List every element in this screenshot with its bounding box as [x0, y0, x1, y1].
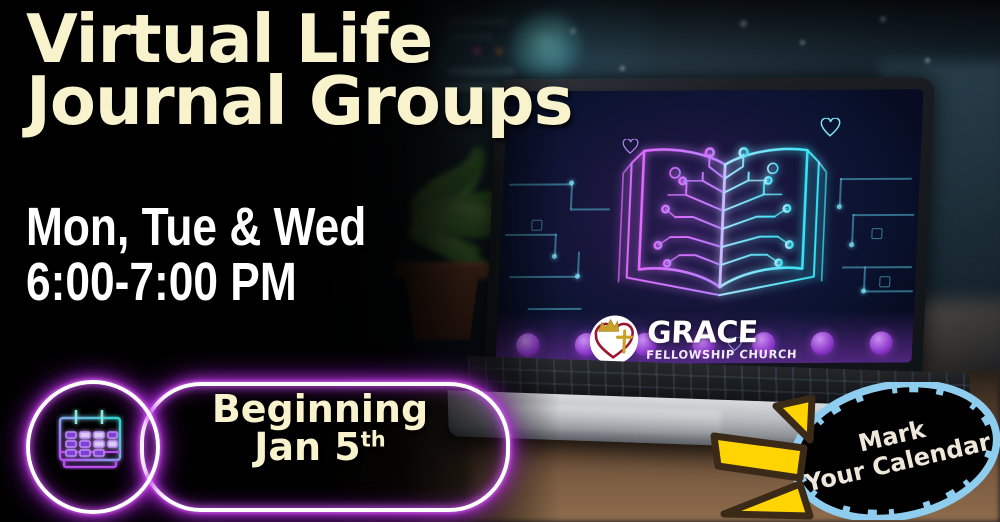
circuit-node [575, 274, 580, 279]
promo-poster: GRACE FELLOWSHIP CHURCH [0, 0, 1000, 522]
screen-dot [810, 331, 834, 354]
schedule-days: Mon, Tue & Wed [26, 200, 366, 255]
circuit-trace [840, 178, 912, 180]
circuit-square [871, 228, 882, 239]
schedule-block: Mon, Tue & Wed 6:00-7:00 PM [26, 200, 366, 310]
start-date-line-1: Beginning [150, 390, 490, 428]
logo-name: GRACE [647, 319, 799, 347]
burst-ray-top [776, 398, 812, 440]
glowing-circuit-book-icon [607, 128, 844, 310]
logo-tagline: FELLOWSHIP CHURCH [646, 349, 797, 360]
circuit-trace [842, 266, 912, 268]
start-date-line-2: Jan 5th [150, 428, 490, 466]
burst-ray-middle [714, 436, 804, 478]
circuit-trace [570, 208, 610, 210]
schedule-time: 6:00-7:00 PM [26, 255, 366, 310]
circuit-trace [863, 290, 913, 292]
start-date-ordinal: th [361, 427, 386, 451]
circuit-trace [570, 183, 573, 209]
circuit-node [569, 180, 574, 185]
crowned-heart-cross-icon [587, 314, 641, 365]
page-title: Virtual Life Journal Groups [26, 8, 646, 133]
calendar-icon [56, 408, 124, 470]
circuit-square [879, 276, 890, 287]
title-line-2: Journal Groups [26, 70, 646, 132]
circuit-trace [851, 214, 854, 244]
grace-fellowship-logo: GRACE FELLOWSHIP CHURCH [587, 313, 799, 365]
screen-dot [869, 331, 893, 354]
circuit-node [849, 242, 854, 247]
start-date-month-day: Jan 5 [254, 425, 361, 469]
circuit-trace [852, 214, 914, 216]
burst-ray-bottom [724, 484, 810, 516]
start-date-text: Beginning Jan 5th [150, 390, 490, 466]
burst-rays [700, 392, 870, 522]
circuit-node [861, 288, 866, 293]
